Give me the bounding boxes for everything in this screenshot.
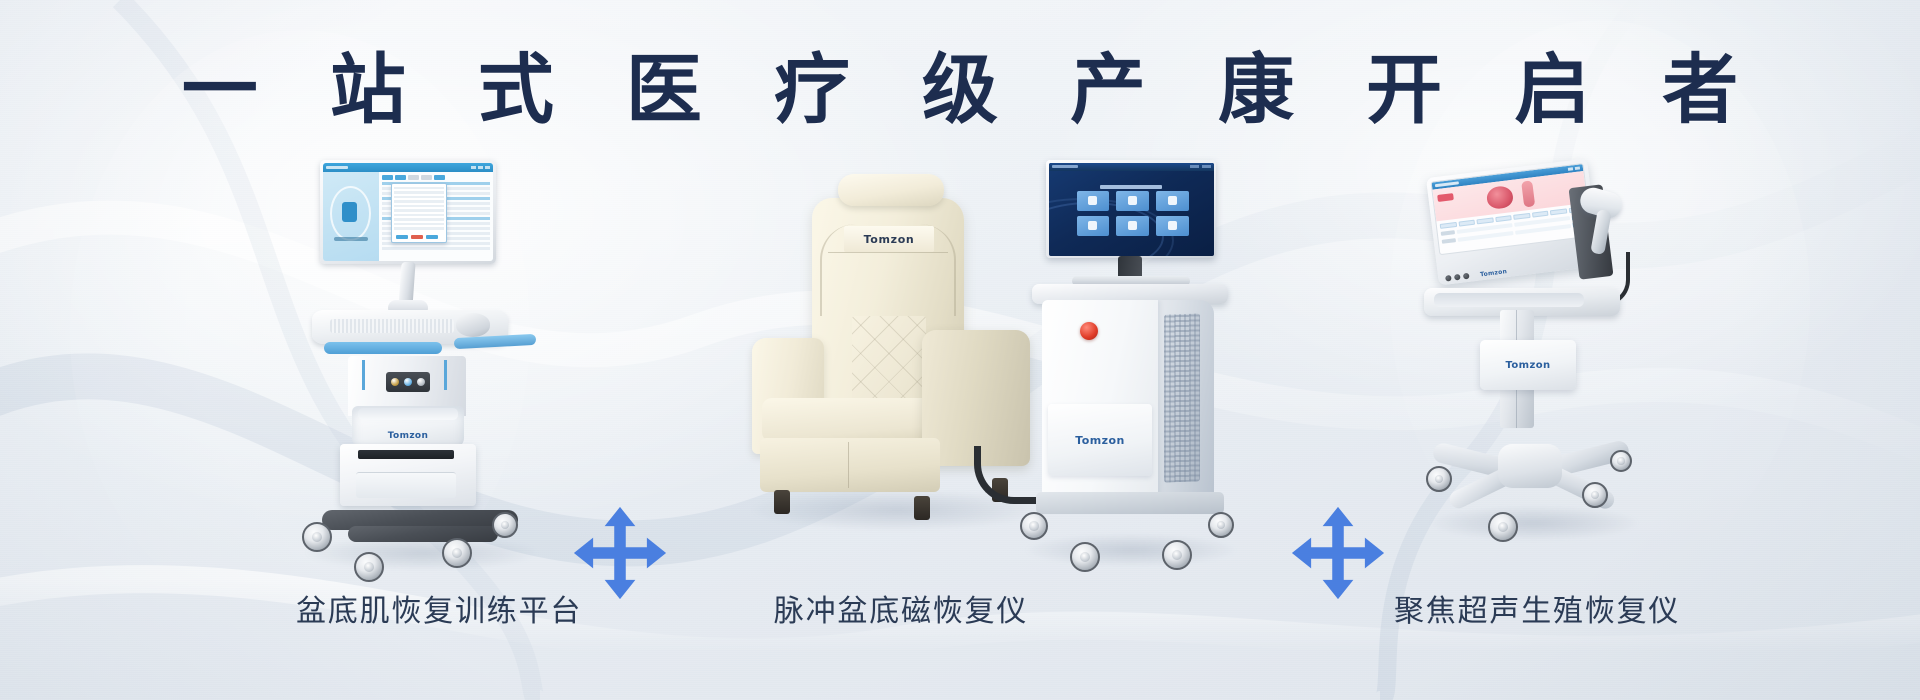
menu-tile-help[interactable] (1156, 216, 1189, 236)
deck-knob[interactable] (456, 313, 490, 337)
four-way-arrow-icon (572, 505, 668, 601)
plus-separator-1 (572, 505, 668, 601)
caster-wheel (1426, 466, 1452, 492)
screen-topbar (1049, 163, 1214, 171)
chair-front-panel (760, 438, 940, 492)
emergency-stop-button[interactable] (1080, 322, 1098, 340)
brand-logo-box: Tomzon (1506, 360, 1551, 371)
chair-leg (914, 496, 930, 520)
floor-shadow (1026, 534, 1236, 566)
console-base (1036, 492, 1224, 514)
caption-product-2: 脉冲盆底磁恢复仪 (746, 586, 1056, 630)
menu-tile-reports[interactable] (1116, 216, 1149, 236)
ventilation-grille (1164, 313, 1200, 482)
deck-vent (330, 319, 454, 333)
menu-tile-user[interactable] (1077, 191, 1110, 211)
body-figure-icon (1521, 180, 1535, 207)
caster-wheel (1208, 512, 1234, 538)
console-brand-panel: Tomzon (1048, 404, 1152, 476)
caption-product-1: 盆底肌恢复训练平台 (296, 586, 546, 630)
brand-logo-basket: Tomzon (352, 431, 464, 441)
screen-magnetic-menu[interactable] (1049, 163, 1214, 256)
chair-headrest (838, 174, 944, 206)
brand-box: Tomzon (1480, 340, 1576, 390)
caster-wheel (1582, 482, 1608, 508)
caster-wheel (442, 538, 472, 568)
menu-tile-settings[interactable] (1077, 216, 1110, 236)
console-body: Tomzon (1042, 300, 1214, 498)
chair-leg (774, 490, 790, 514)
product-pulse-magnetic-console[interactable]: Tomzon (1026, 160, 1234, 580)
monitor-1 (320, 160, 496, 264)
brand-logo-ultrasound: Tomzon (1480, 268, 1508, 278)
printer-unit (340, 444, 476, 506)
caster-wheel (354, 552, 384, 582)
storage-basket: Tomzon (352, 406, 464, 448)
brand-logo-console: Tomzon (1075, 434, 1125, 447)
caster-wheel (1070, 542, 1100, 572)
console-bezel: Tomzon (1442, 255, 1596, 284)
caster-wheel (492, 512, 518, 538)
connector-panel[interactable] (386, 372, 430, 392)
product-pelvic-floor-training-platform[interactable]: Tomzon (296, 160, 546, 580)
menu-tile-records[interactable] (1156, 191, 1189, 211)
product-row: Tomzon (0, 160, 1920, 580)
uterus-icon (1485, 185, 1513, 210)
promo-banner: 一 站 式 医 疗 级 产 康 开 启 者 (0, 0, 1920, 700)
caster-wheel (1488, 512, 1518, 542)
caster-wheel (1610, 450, 1632, 472)
caster-wheel (1020, 512, 1048, 540)
chair-logo-plate: Tomzon (844, 226, 934, 252)
screen-ultrasound-ui[interactable] (1430, 163, 1592, 255)
product-treatment-chair[interactable]: Tomzon (746, 160, 1056, 580)
monitor-2 (1046, 160, 1216, 258)
screen-training-software[interactable] (323, 163, 493, 261)
menu-tile-treatment[interactable] (1116, 191, 1149, 211)
caster-wheel (302, 522, 332, 552)
screen-menu-grid[interactable] (1077, 191, 1189, 236)
four-way-arrow-icon (1290, 505, 1386, 601)
software-patient-panel (323, 172, 379, 261)
handle-left[interactable] (324, 342, 442, 354)
caster-wheel (1162, 540, 1192, 570)
caption-product-3: 聚焦超声生殖恢复仪 (1394, 586, 1674, 630)
chair-seat (762, 398, 948, 442)
page-title: 一 站 式 医 疗 级 产 康 开 启 者 (0, 52, 1920, 128)
plus-separator-2 (1290, 505, 1386, 601)
software-titlebar (323, 163, 493, 172)
product-focused-ultrasound[interactable]: Tomzon Tomzon (1424, 160, 1644, 580)
chair-quilted-panel (852, 316, 926, 402)
brand-logo-chair: Tomzon (864, 233, 915, 246)
software-dialog[interactable] (391, 183, 447, 244)
